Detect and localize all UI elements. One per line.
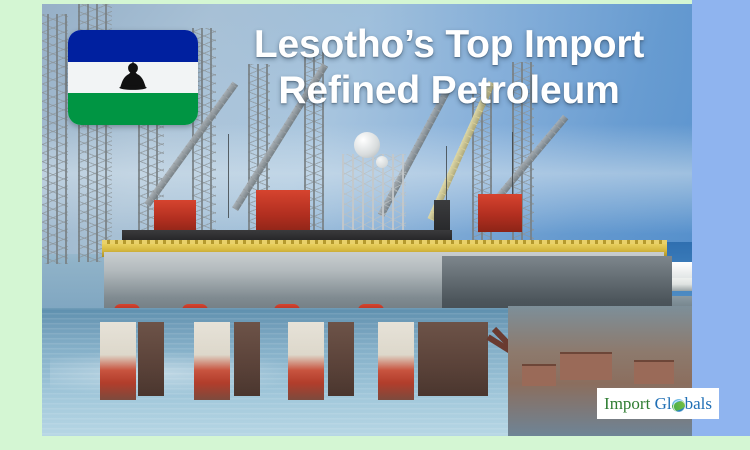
lattice-tower-left-1 <box>42 14 68 264</box>
left-border-band <box>0 0 42 450</box>
dock-shed-2 <box>634 360 674 384</box>
logo-word-suffix: bals <box>685 395 712 412</box>
logo-word-prefix: Gl <box>655 395 672 412</box>
red-crane-house-2 <box>256 190 310 234</box>
pontoon-leg-4 <box>378 322 414 400</box>
right-border-band <box>692 0 750 450</box>
crane-cable-1 <box>228 134 229 218</box>
red-crane-house-1 <box>154 200 196 234</box>
title-line-1: Lesotho’s Top Import <box>214 22 684 68</box>
pontoon-leg-shadow-4 <box>418 322 488 396</box>
page-title: Lesotho’s Top Import Refined Petroleum <box>214 22 684 114</box>
logo-word-import: Import <box>604 395 650 412</box>
promo-banner: Lesotho’s Top Import Refined Petroleum I… <box>0 0 750 450</box>
radar-dome-small <box>376 156 388 168</box>
pontoon-leg-shadow-2 <box>234 322 260 396</box>
dock-shed-1 <box>560 352 612 380</box>
title-line-2: Refined Petroleum <box>214 68 684 114</box>
flag-band-blue <box>68 30 198 62</box>
red-crane-house-3 <box>478 194 522 232</box>
bottom-border-band <box>0 436 750 450</box>
pontoon-leg-shadow-1 <box>138 322 164 396</box>
lesotho-flag <box>68 30 198 125</box>
pontoon-leg-2 <box>194 322 230 400</box>
pontoon-leg-shadow-3 <box>328 322 354 396</box>
dock-shed-3 <box>522 364 556 386</box>
pontoon-leg-3 <box>288 322 324 400</box>
flag-band-green <box>68 93 198 125</box>
globe-icon <box>672 399 685 412</box>
mokorotlo-hat-icon <box>116 62 150 97</box>
water-reflection <box>50 350 310 396</box>
import-globals-logo[interactable]: Import Glbals <box>597 388 719 419</box>
pontoon-leg-1 <box>100 322 136 400</box>
radar-dome <box>354 132 380 158</box>
